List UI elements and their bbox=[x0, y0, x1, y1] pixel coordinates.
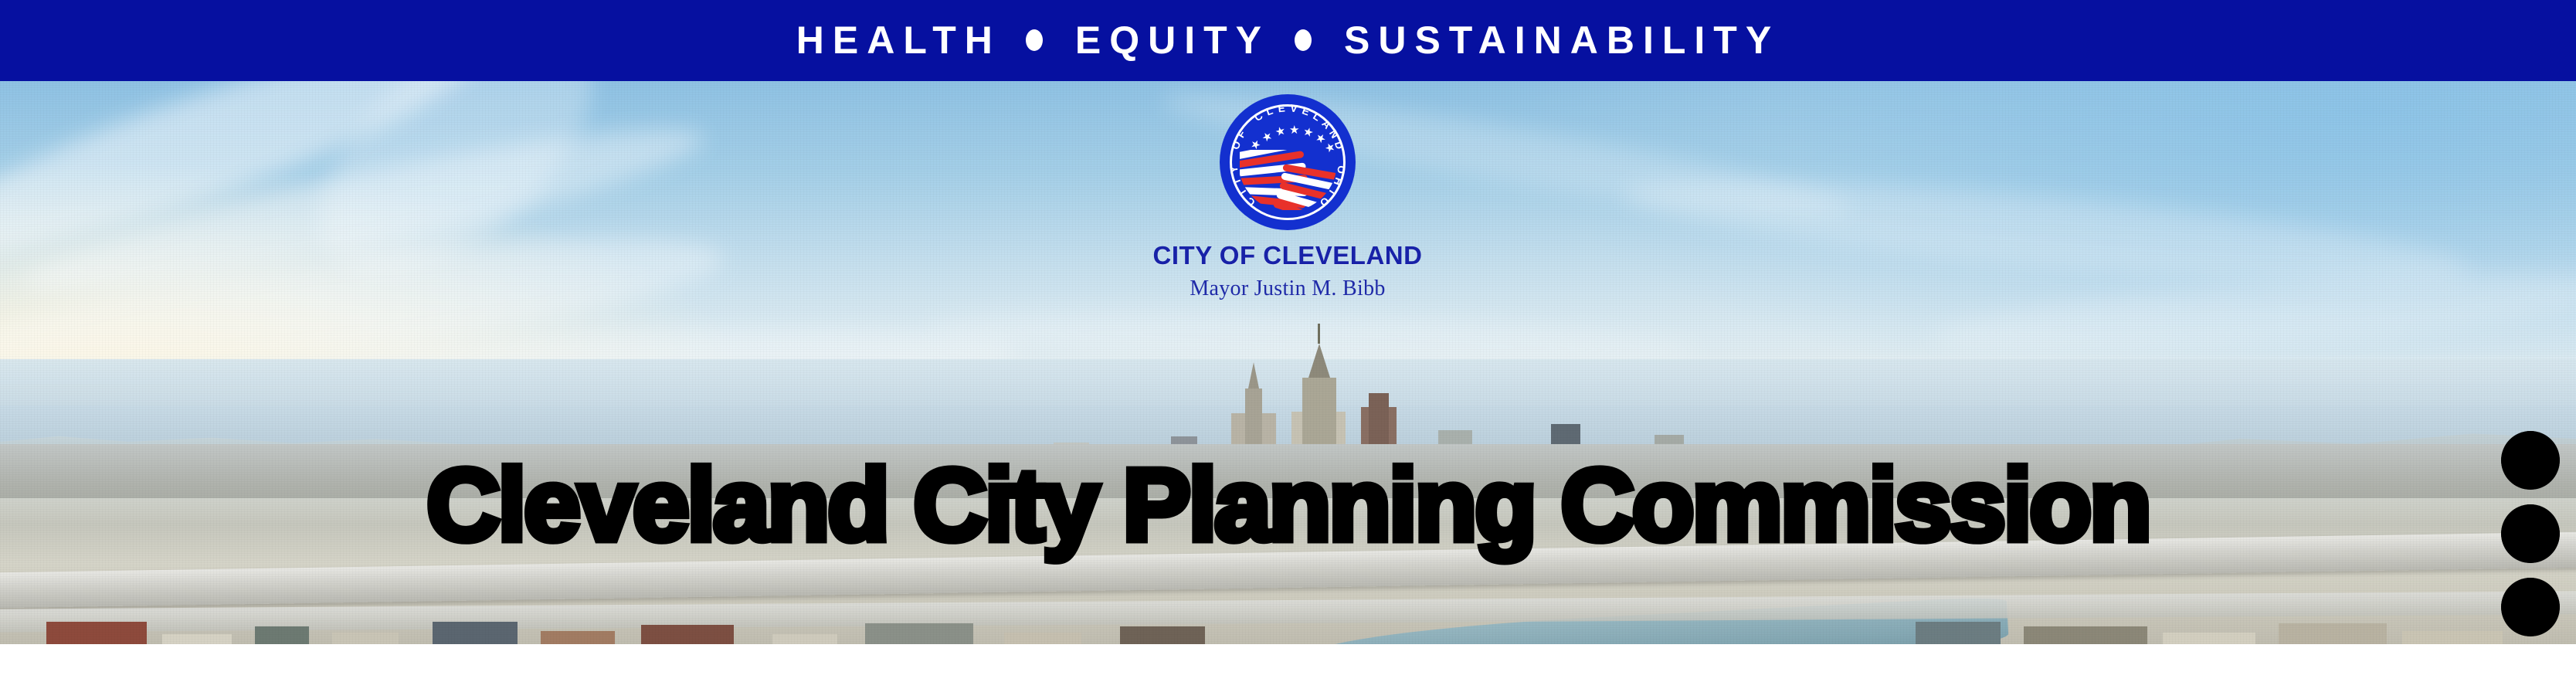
bottom-whitespace bbox=[0, 644, 2576, 682]
banner-word-equity: EQUITY bbox=[1075, 21, 1270, 59]
banner-separator-dot-2 bbox=[1295, 29, 1312, 51]
instagram-icon[interactable] bbox=[2501, 504, 2560, 563]
seal-flag bbox=[1240, 150, 1336, 210]
top-banner: HEALTH EQUITY SUSTAINABILITY bbox=[0, 0, 2576, 81]
page-title: Cleveland City Planning Commission bbox=[0, 454, 2576, 556]
mayor-name-label: Mayor Justin M. Bibb bbox=[1190, 277, 1385, 301]
city-of-cleveland-seal-icon: ★ ★ ★ ★ ★ ★ ★ bbox=[1220, 94, 1356, 230]
facebook-icon[interactable] bbox=[2501, 578, 2560, 636]
seal-emblem: ★ ★ ★ ★ ★ ★ ★ bbox=[1238, 113, 1337, 212]
city-name-label: CITY OF CLEVELAND bbox=[1153, 241, 1423, 270]
page-root: HEALTH EQUITY SUSTAINABILITY bbox=[0, 0, 2576, 682]
social-links bbox=[2500, 431, 2561, 640]
banner-separator-dot-1 bbox=[1026, 29, 1043, 51]
youtube-icon[interactable] bbox=[2501, 431, 2560, 490]
city-branding-block: ★ ★ ★ ★ ★ ★ ★ bbox=[1095, 94, 1481, 326]
banner-word-health: HEALTH bbox=[796, 21, 1001, 59]
banner-word-sustainability: SUSTAINABILITY bbox=[1344, 21, 1780, 59]
